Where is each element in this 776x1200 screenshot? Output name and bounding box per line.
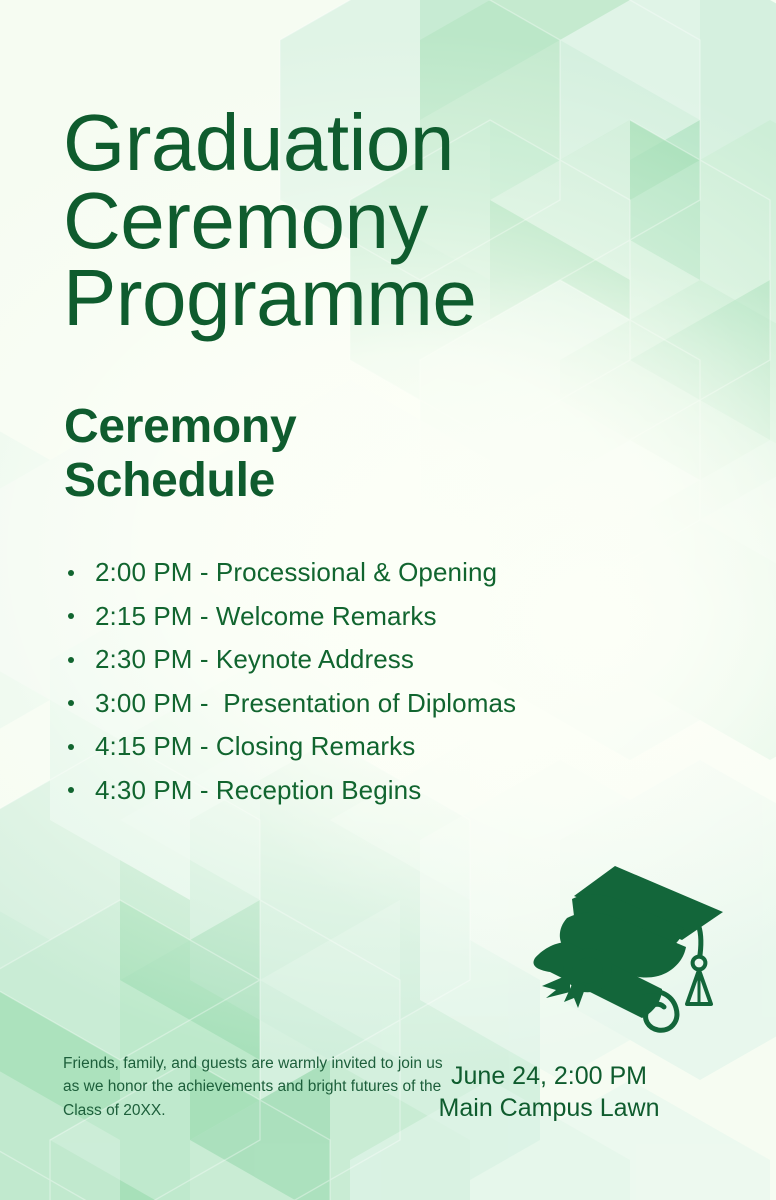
- bullet-icon: [68, 744, 74, 750]
- bullet-icon: [68, 657, 74, 663]
- list-item: 2:00 PM - Processional & Opening: [64, 551, 704, 595]
- graduation-programme-poster: Graduation Ceremony Programme Ceremony S…: [0, 0, 776, 1200]
- list-item: 4:30 PM - Reception Begins: [64, 769, 704, 813]
- schedule-item-label: 4:15 PM - Closing Remarks: [95, 731, 415, 761]
- schedule-list: 2:00 PM - Processional & Opening 2:15 PM…: [64, 551, 704, 812]
- bullet-icon: [68, 700, 74, 706]
- list-item: 3:00 PM - Presentation of Diplomas: [64, 682, 704, 726]
- schedule-item-label: 2:15 PM - Welcome Remarks: [95, 601, 437, 631]
- bullet-icon: [68, 787, 74, 793]
- schedule-item-label: 3:00 PM - Presentation of Diplomas: [95, 688, 516, 718]
- page-title: Graduation Ceremony Programme: [63, 104, 683, 337]
- graduation-cap-and-diploma-icon: [512, 862, 724, 1034]
- list-item: 2:30 PM - Keynote Address: [64, 638, 704, 682]
- schedule-item-label: 2:30 PM - Keynote Address: [95, 644, 414, 674]
- list-item: 2:15 PM - Welcome Remarks: [64, 595, 704, 639]
- schedule-item-label: 4:30 PM - Reception Begins: [95, 775, 421, 805]
- bullet-icon: [68, 570, 74, 576]
- schedule-item-label: 2:00 PM - Processional & Opening: [95, 557, 497, 587]
- event-details: June 24, 2:00 PM Main Campus Lawn: [384, 1060, 714, 1124]
- bullet-icon: [68, 613, 74, 619]
- section-heading-ceremony-schedule: Ceremony Schedule: [64, 400, 564, 508]
- list-item: 4:15 PM - Closing Remarks: [64, 725, 704, 769]
